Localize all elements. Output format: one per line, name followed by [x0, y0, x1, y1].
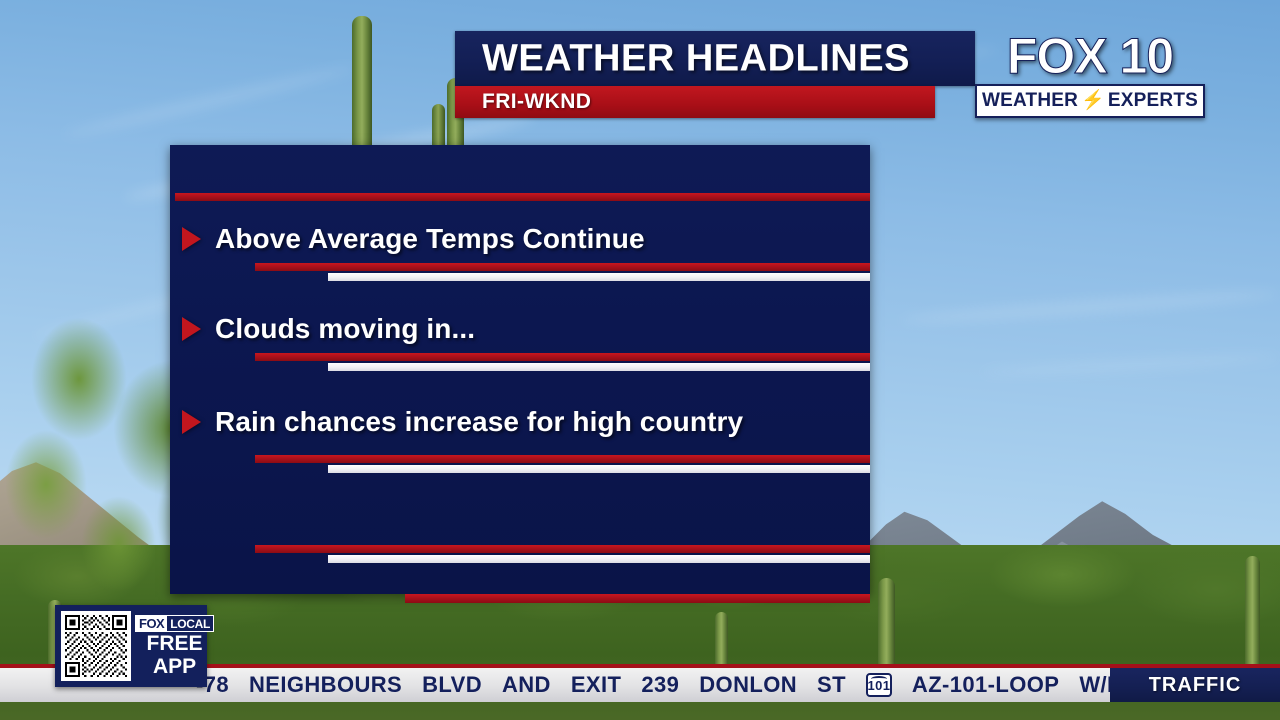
panel-bottom-rule: [405, 594, 870, 603]
headline-text: Above Average Temps Continue: [215, 223, 645, 255]
page-title: WEATHER HEADLINES: [482, 37, 910, 80]
lightning-bolt-icon: ⚡: [1081, 91, 1105, 110]
headline-text: Rain chances increase for high country: [215, 406, 743, 438]
ticker-segment: ST: [817, 672, 846, 698]
triangle-bullet-icon: [182, 227, 201, 251]
panel-top-rule: [175, 193, 870, 201]
fox-local-fox: FOX: [136, 616, 167, 631]
headline-rule-white-3: [328, 465, 870, 473]
ticker-segment: 239: [641, 672, 679, 698]
headline-item-3: Rain chances increase for high country: [182, 406, 743, 438]
ticker-segment: W/B:: [1079, 672, 1110, 698]
ticker-segment: AZ-101-LOOP: [912, 672, 1059, 698]
highway-shield-icon: 101: [866, 673, 892, 697]
station-logo: FOX 10 WEATHER ⚡ EXPERTS: [975, 26, 1205, 122]
ticker-segment: AND: [502, 672, 551, 698]
traffic-label-tab[interactable]: TRAFFIC: [1110, 664, 1280, 702]
weather-headlines-title-bar: WEATHER HEADLINES: [455, 31, 975, 86]
saguaro-cactus-icon: [1245, 556, 1260, 676]
ticker-segment: NEIGHBOURS: [249, 672, 402, 698]
fox-local-local: LOCAL: [167, 616, 213, 631]
headline-text: Clouds moving in...: [215, 313, 475, 345]
headline-rule-red-2: [255, 353, 870, 361]
free-app-line2: APP: [153, 657, 196, 677]
headline-item-1: Above Average Temps Continue: [182, 223, 645, 255]
timeframe-subtitle-bar: FRI-WKND: [455, 86, 935, 118]
headline-rule-red-4: [255, 545, 870, 553]
free-app-promo[interactable]: FOX LOCAL FREE APP: [55, 605, 207, 687]
ticker-segment: BLVD: [422, 672, 482, 698]
headline-rule-white-1: [328, 273, 870, 281]
headline-rule-red-1: [255, 263, 870, 271]
weather-experts-right: EXPERTS: [1108, 90, 1198, 112]
headlines-panel: Above Average Temps Continue Clouds movi…: [170, 145, 870, 594]
weather-experts-bar: WEATHER ⚡ EXPERTS: [975, 84, 1205, 118]
free-app-line1: FREE: [147, 634, 203, 654]
headline-rule-white-4: [328, 555, 870, 563]
weather-experts-left: WEATHER: [982, 90, 1078, 112]
broadcast-screen: WEATHER HEADLINES FRI-WKND FOX 10 WEATHE…: [0, 0, 1280, 720]
headline-rule-white-2: [328, 363, 870, 371]
traffic-label: TRAFFIC: [1149, 674, 1242, 697]
qr-code-icon[interactable]: [61, 611, 131, 681]
fox-wordmark: FOX 10: [975, 26, 1205, 86]
headline-rule-red-3: [255, 455, 870, 463]
timeframe-label: FRI-WKND: [482, 90, 591, 114]
ticker-segment: DONLON: [699, 672, 797, 698]
triangle-bullet-icon: [182, 317, 201, 341]
promo-text: FOX LOCAL FREE APP: [131, 615, 214, 676]
fox-wordmark-text: FOX 10: [1007, 31, 1173, 81]
triangle-bullet-icon: [182, 410, 201, 434]
fox-local-badge: FOX LOCAL: [135, 615, 214, 632]
ticker-segment: EXIT: [571, 672, 622, 698]
headline-item-2: Clouds moving in...: [182, 313, 475, 345]
